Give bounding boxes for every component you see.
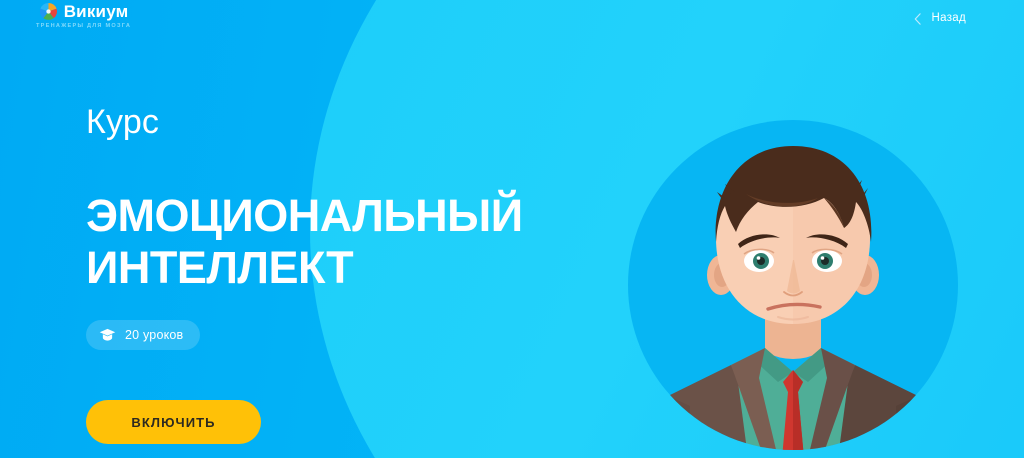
brand-logo-tagline: ТРЕНАЖЕРЫ ДЛЯ МОЗГА — [36, 23, 131, 29]
lessons-count-badge: 20 уроков — [86, 320, 200, 350]
graduation-cap-icon — [99, 328, 116, 342]
back-button[interactable]: Назад — [914, 12, 966, 24]
page-title: ЭМОЦИОНАЛЬНЫЙ ИНТЕЛЛЕКТ — [86, 190, 606, 294]
page-title-line-2: ИНТЕЛЛЕКТ — [86, 242, 606, 294]
back-button-label: Назад — [932, 12, 966, 24]
chevron-left-icon — [914, 12, 921, 24]
page-stage: Викиум ТРЕНАЖЕРЫ ДЛЯ МОЗГА Назад Курс ЭМ… — [0, 0, 1024, 458]
page-header: Викиум ТРЕНАЖЕРЫ ДЛЯ МОЗГА Назад — [0, 0, 1024, 40]
brand-logo-wordmark: Викиум — [64, 2, 129, 21]
businessman-portrait-illustration — [628, 120, 958, 458]
course-kicker: Курс — [86, 105, 159, 139]
hero-content: Курс ЭМОЦИОНАЛЬНЫЙ ИНТЕЛЛЕКТ 20 уроков В… — [86, 0, 646, 458]
lessons-count-label: 20 уроков — [125, 328, 183, 342]
vikium-pinwheel-logo-icon — [39, 2, 58, 21]
brand-logo-row: Викиум — [39, 2, 129, 21]
page-title-line-1: ЭМОЦИОНАЛЬНЫЙ — [86, 190, 606, 242]
brand-logo[interactable]: Викиум ТРЕНАЖЕРЫ ДЛЯ МОЗГА — [36, 2, 131, 29]
enable-course-button[interactable]: ВКЛЮЧИТЬ — [86, 400, 261, 444]
